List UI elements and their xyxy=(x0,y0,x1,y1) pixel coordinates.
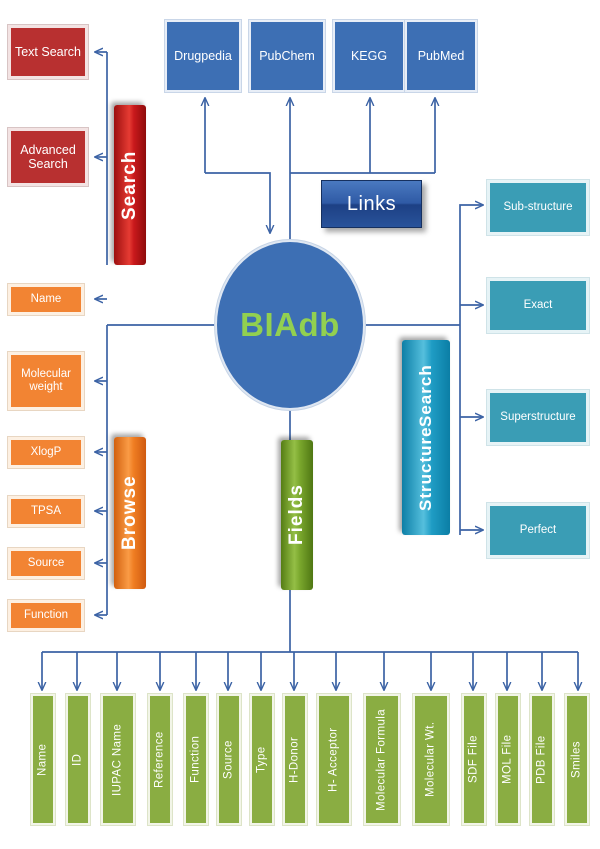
field-bar-reference[interactable]: Reference xyxy=(148,694,172,825)
links-banner[interactable]: Links xyxy=(321,180,422,228)
link-box-pubchem[interactable]: PubChem xyxy=(249,20,325,92)
link-box-drugpedia[interactable]: Drugpedia xyxy=(165,20,241,92)
browse-option-molecular-weight[interactable]: Molecular weight xyxy=(8,352,84,410)
diagram-canvas: Drugpedia PubChem KEGG PubMed Links Text… xyxy=(0,0,600,849)
field-bar-h-donor[interactable]: H-Donor xyxy=(283,694,307,825)
field-bar-h-acceptor[interactable]: H- Acceptor xyxy=(317,694,351,825)
browse-option-name[interactable]: Name xyxy=(8,284,84,315)
browse-option-function[interactable]: Function xyxy=(8,600,84,631)
field-bar-smiles[interactable]: Smiles xyxy=(565,694,589,825)
browse-banner: Browse xyxy=(114,437,146,589)
field-bar-mol-file[interactable]: MOL File xyxy=(496,694,520,825)
fields-banner: Fields xyxy=(281,440,313,590)
browse-option-source[interactable]: Source xyxy=(8,548,84,579)
browse-option-tpsa[interactable]: TPSA xyxy=(8,496,84,527)
browse-option-xlogp[interactable]: XlogP xyxy=(8,437,84,468)
structure-option-superstructure[interactable]: Superstructure xyxy=(487,390,589,445)
search-banner: Search xyxy=(114,105,146,265)
field-bar-iupac-name[interactable]: IUPAC Name xyxy=(101,694,135,825)
field-bar-id[interactable]: ID xyxy=(66,694,90,825)
structure-search-banner: Structure Search xyxy=(402,340,450,535)
field-bar-type[interactable]: Type xyxy=(250,694,274,825)
field-bar-pdb-file[interactable]: PDB File xyxy=(530,694,554,825)
field-bar-molecular-formula[interactable]: Molecular Formula xyxy=(364,694,400,825)
link-box-pubmed[interactable]: PubMed xyxy=(405,20,477,92)
link-box-kegg[interactable]: KEGG xyxy=(333,20,405,92)
center-node-biadb[interactable]: BIAdb xyxy=(215,240,365,410)
structure-option-perfect[interactable]: Perfect xyxy=(487,503,589,558)
structure-search-banner-line1: Structure xyxy=(416,427,436,512)
structure-option-exact[interactable]: Exact xyxy=(487,278,589,333)
field-bar-name[interactable]: Name xyxy=(31,694,55,825)
search-option-text-search[interactable]: Text Search xyxy=(8,25,88,79)
structure-option-sub-structure[interactable]: Sub-structure xyxy=(487,180,589,235)
search-option-advanced-search[interactable]: Advanced Search xyxy=(8,128,88,186)
field-bar-sdf-file[interactable]: SDF File xyxy=(462,694,486,825)
field-bar-function[interactable]: Function xyxy=(184,694,208,825)
structure-search-banner-line2: Search xyxy=(416,364,436,427)
field-bar-molecular-wt[interactable]: Molecular Wt. xyxy=(413,694,449,825)
field-bar-source[interactable]: Source xyxy=(217,694,241,825)
